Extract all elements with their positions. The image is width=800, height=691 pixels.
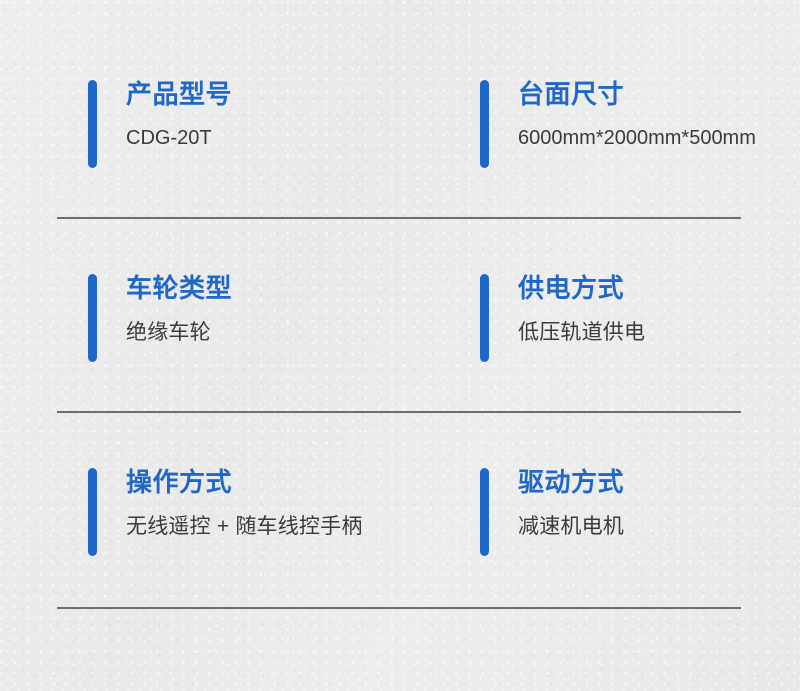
spec-value: 低压轨道供电 xyxy=(518,303,800,345)
accent-bar-icon xyxy=(88,274,97,362)
spec-item-wheel-type: 车轮类型 绝缘车轮 xyxy=(88,274,468,366)
accent-bar-icon xyxy=(480,468,489,556)
spec-value: 无线遥控 + 随车线控手柄 xyxy=(126,497,466,539)
accent-bar-icon xyxy=(88,468,97,556)
spec-row: 产品型号 CDG-20T 台面尺寸 6000mm*2000mm*500mm xyxy=(0,58,800,252)
spec-title: 车轮类型 xyxy=(126,274,466,303)
spec-text-block: 驱动方式 减速机电机 xyxy=(518,468,800,539)
spec-title: 操作方式 xyxy=(126,468,466,497)
spec-value: 绝缘车轮 xyxy=(126,303,466,345)
spec-sheet-page: 产品型号 CDG-20T 台面尺寸 6000mm*2000mm*500mm 车轮… xyxy=(0,0,800,691)
section-divider xyxy=(57,607,741,609)
spec-title: 供电方式 xyxy=(518,274,800,303)
spec-row: 车轮类型 绝缘车轮 供电方式 低压轨道供电 xyxy=(0,252,800,446)
spec-value: CDG-20T xyxy=(126,109,466,150)
section-divider xyxy=(57,411,741,413)
spec-value: 6000mm*2000mm*500mm xyxy=(518,109,800,150)
spec-item-drive-mode: 驱动方式 减速机电机 xyxy=(480,468,790,560)
section-divider xyxy=(57,217,741,219)
accent-bar-icon xyxy=(480,80,489,168)
spec-grid: 产品型号 CDG-20T 台面尺寸 6000mm*2000mm*500mm 车轮… xyxy=(0,0,800,691)
spec-item-product-model: 产品型号 CDG-20T xyxy=(88,80,468,172)
spec-text-block: 产品型号 CDG-20T xyxy=(126,80,466,150)
spec-item-power-supply: 供电方式 低压轨道供电 xyxy=(480,274,790,366)
accent-bar-icon xyxy=(88,80,97,168)
spec-value: 减速机电机 xyxy=(518,497,800,539)
spec-title: 驱动方式 xyxy=(518,468,800,497)
spec-item-table-size: 台面尺寸 6000mm*2000mm*500mm xyxy=(480,80,790,172)
spec-title: 台面尺寸 xyxy=(518,80,800,109)
spec-text-block: 供电方式 低压轨道供电 xyxy=(518,274,800,345)
accent-bar-icon xyxy=(480,274,489,362)
spec-text-block: 台面尺寸 6000mm*2000mm*500mm xyxy=(518,80,800,150)
spec-text-block: 车轮类型 绝缘车轮 xyxy=(126,274,466,345)
spec-text-block: 操作方式 无线遥控 + 随车线控手柄 xyxy=(126,468,466,539)
spec-title: 产品型号 xyxy=(126,80,466,109)
spec-row: 操作方式 无线遥控 + 随车线控手柄 驱动方式 减速机电机 xyxy=(0,446,800,640)
spec-item-operation-mode: 操作方式 无线遥控 + 随车线控手柄 xyxy=(88,468,468,560)
